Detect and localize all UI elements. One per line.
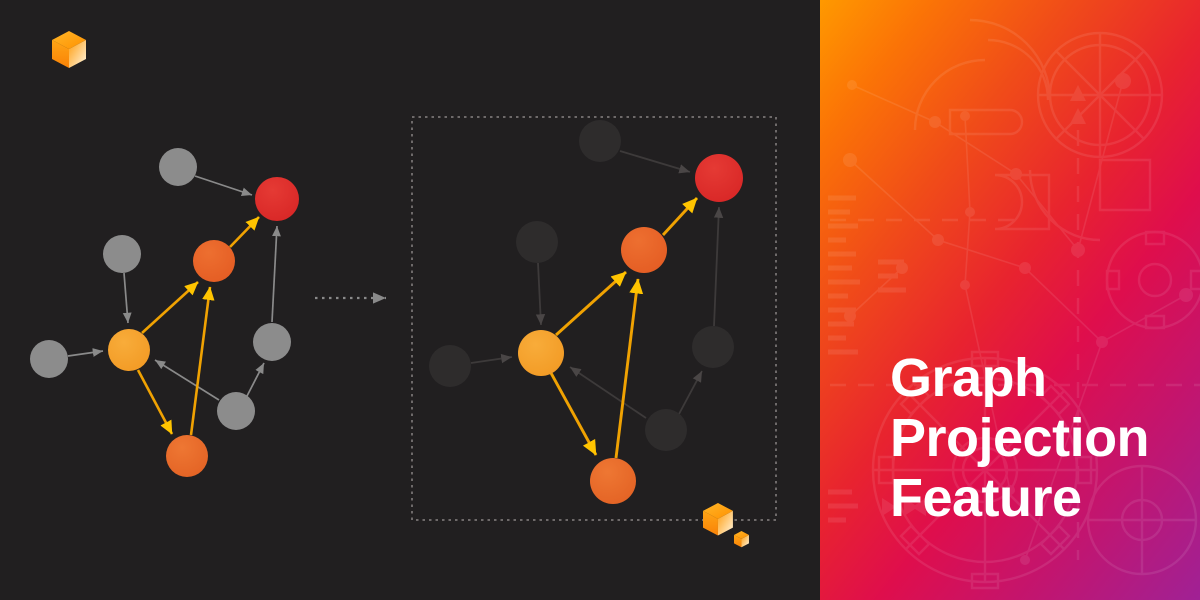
edge-g2-a1 xyxy=(538,263,541,325)
projected-graph xyxy=(412,117,776,520)
poster-canvas: Graph Projection Feature xyxy=(0,0,1200,600)
node-deep-orange xyxy=(193,240,235,282)
node-red xyxy=(695,154,743,202)
edge-g2-a1 xyxy=(124,273,128,323)
neo4j-cube-small-icon xyxy=(734,531,749,547)
neo4j-cube-large-icon xyxy=(703,503,733,536)
node-grey xyxy=(217,392,255,430)
node-grey xyxy=(103,235,141,273)
title-line-3: Feature xyxy=(890,468,1190,528)
edge-g3-a1 xyxy=(68,351,103,356)
edge-g3-a1 xyxy=(471,357,512,363)
graph-diagram-svg xyxy=(0,0,820,600)
source-grey-edges xyxy=(68,176,277,400)
edge-g5-r1 xyxy=(714,207,719,326)
node-deep-orange xyxy=(590,458,636,504)
edge-g1-r1 xyxy=(620,151,690,172)
edge-g4-g5 xyxy=(679,371,702,414)
edge-o2-o1 xyxy=(616,279,638,458)
node-deep-orange xyxy=(621,227,667,273)
edge-o1-r1 xyxy=(230,217,259,247)
edge-a1-o1 xyxy=(556,272,626,335)
node-red xyxy=(255,177,299,221)
neo4j-cube-logo xyxy=(52,31,86,68)
diagram-panel xyxy=(0,0,820,600)
node-dimmed xyxy=(429,345,471,387)
edge-a1-o2 xyxy=(551,373,596,455)
edge-g4-g5 xyxy=(247,363,264,396)
node-grey xyxy=(30,340,68,378)
node-amber xyxy=(518,330,564,376)
edge-a1-o1 xyxy=(142,282,198,333)
title-line-1: Graph xyxy=(890,348,1190,408)
node-dimmed xyxy=(579,120,621,162)
node-deep-orange xyxy=(166,435,208,477)
edge-g5-r1 xyxy=(272,226,277,322)
projected-dim-edges xyxy=(471,151,719,418)
node-grey xyxy=(253,323,291,361)
edge-o2-o1 xyxy=(191,287,210,435)
node-dimmed xyxy=(645,409,687,451)
node-grey xyxy=(159,148,197,186)
poster-title: Graph Projection Feature xyxy=(890,348,1190,528)
title-panel: Graph Projection Feature xyxy=(820,0,1200,600)
projected-nodes xyxy=(429,120,743,504)
edge-g4-a1 xyxy=(570,367,646,418)
edge-a1-o2 xyxy=(138,370,172,434)
node-amber xyxy=(108,329,150,371)
edge-o1-r1 xyxy=(663,198,697,235)
title-line-2: Projection xyxy=(890,408,1190,468)
node-dimmed xyxy=(692,326,734,368)
source-graph xyxy=(30,148,299,477)
node-dimmed xyxy=(516,221,558,263)
edge-g1-r1 xyxy=(195,176,252,195)
edge-g4-a1 xyxy=(155,360,219,400)
